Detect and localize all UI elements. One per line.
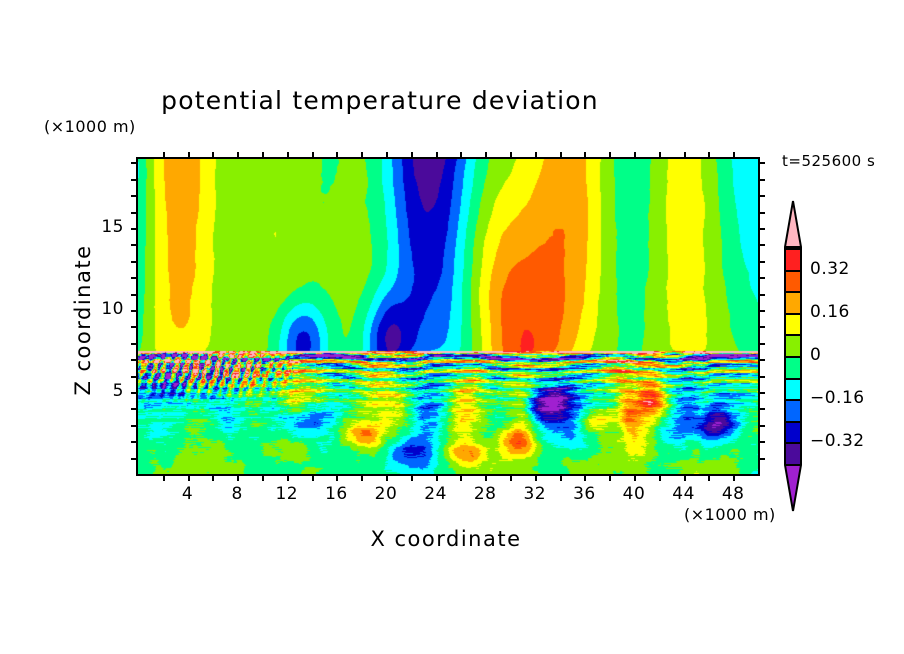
x-tick-label: 12 (267, 484, 307, 504)
y-tick (131, 376, 138, 378)
x-tick-label: 8 (217, 484, 257, 504)
x-tick-label: 32 (515, 484, 555, 504)
contour-field (138, 159, 758, 474)
x-tick (560, 474, 562, 481)
x-tick (212, 152, 214, 159)
x-tick-label: 4 (168, 484, 208, 504)
x-axis-title: X coordinate (136, 527, 756, 551)
y-tick (131, 343, 138, 345)
x-tick-label: 16 (316, 484, 356, 504)
y-tick (758, 408, 765, 410)
x-tick (684, 152, 686, 159)
y-tick (131, 326, 138, 328)
x-tick (287, 474, 289, 481)
y-tick (131, 228, 138, 230)
y-tick (758, 179, 765, 181)
x-units-label: (×1000 m) (684, 505, 776, 524)
x-tick (733, 152, 735, 159)
cap-triangle-down (784, 464, 802, 512)
x-tick-label: 20 (366, 484, 406, 504)
y-tick (131, 195, 138, 197)
x-tick (312, 474, 314, 481)
figure-root: potential temperature deviation (×1000 m… (0, 0, 904, 654)
y-tick (758, 359, 765, 361)
y-tick-label: 5 (84, 381, 124, 401)
x-tick (386, 474, 388, 481)
x-tick (535, 474, 537, 481)
y-tick (758, 212, 765, 214)
plot-area (136, 157, 760, 476)
x-tick (436, 152, 438, 159)
x-tick (460, 474, 462, 481)
x-tick (684, 474, 686, 481)
y-tick (758, 162, 765, 164)
y-tick (758, 343, 765, 345)
x-tick-label: 40 (614, 484, 654, 504)
colorbar-bands (784, 248, 802, 464)
y-tick-label: 15 (84, 217, 124, 237)
x-tick (609, 152, 611, 159)
x-tick (411, 474, 413, 481)
y-tick (758, 376, 765, 378)
y-tick (758, 195, 765, 197)
y-tick (131, 162, 138, 164)
x-tick-label: 36 (564, 484, 604, 504)
x-tick-label: 24 (416, 484, 456, 504)
colorbar-band (786, 423, 800, 445)
y-tick (758, 310, 765, 312)
x-tick-label: 28 (465, 484, 505, 504)
colorbar-band (786, 250, 800, 272)
y-tick (131, 277, 138, 279)
y-tick (758, 261, 765, 263)
x-tick (733, 474, 735, 481)
x-tick (312, 152, 314, 159)
colorbar-band (786, 315, 800, 337)
y-tick-label: 10 (84, 299, 124, 319)
x-tick (237, 152, 239, 159)
x-tick (336, 474, 338, 481)
x-tick (386, 152, 388, 159)
y-tick (131, 458, 138, 460)
x-tick (163, 474, 165, 481)
x-tick (287, 152, 289, 159)
y-tick (131, 244, 138, 246)
colorbar-tick-label: 0.32 (810, 259, 850, 279)
y-tick (758, 458, 765, 460)
x-tick (535, 152, 537, 159)
x-tick (584, 474, 586, 481)
page-title: potential temperature deviation (0, 86, 760, 115)
x-tick (708, 474, 710, 481)
y-tick (131, 179, 138, 181)
x-tick (634, 152, 636, 159)
x-tick (510, 474, 512, 481)
x-tick (212, 474, 214, 481)
colorbar-under-cap (784, 464, 802, 512)
x-tick (659, 152, 661, 159)
y-tick (131, 310, 138, 312)
time-annotation: t=525600 s (782, 152, 875, 170)
colorbar-over-cap (784, 200, 802, 248)
z-units-label: (×1000 m) (44, 117, 136, 136)
y-tick (131, 425, 138, 427)
x-tick (361, 152, 363, 159)
y-tick (758, 425, 765, 427)
y-tick (758, 277, 765, 279)
colorbar-band (786, 358, 800, 380)
colorbar-tick-label: −0.16 (810, 388, 865, 408)
colorbar-band (786, 444, 800, 466)
x-tick (336, 152, 338, 159)
x-tick (163, 152, 165, 159)
x-tick (659, 474, 661, 481)
x-tick (609, 474, 611, 481)
x-tick (460, 152, 462, 159)
y-tick (131, 392, 138, 394)
x-tick-label: 44 (664, 484, 704, 504)
x-tick-label: 48 (713, 484, 753, 504)
colorbar-tick-label: −0.32 (810, 431, 865, 451)
colorbar-band (786, 380, 800, 402)
x-tick (708, 152, 710, 159)
colorbar-band (786, 401, 800, 423)
colorbar-band (786, 272, 800, 294)
x-tick (485, 152, 487, 159)
x-tick (510, 152, 512, 159)
x-tick (188, 152, 190, 159)
x-tick (262, 474, 264, 481)
x-tick (584, 152, 586, 159)
x-tick (262, 152, 264, 159)
y-tick (758, 228, 765, 230)
y-tick (758, 441, 765, 443)
x-tick (485, 474, 487, 481)
y-tick (131, 212, 138, 214)
x-tick (188, 474, 190, 481)
y-tick (758, 326, 765, 328)
y-tick (131, 441, 138, 443)
y-tick (131, 408, 138, 410)
colorbar-tick-label: 0.16 (810, 302, 850, 322)
x-tick (634, 474, 636, 481)
x-tick (411, 152, 413, 159)
colorbar-tick-label: 0 (810, 345, 821, 365)
x-tick (560, 152, 562, 159)
y-tick (131, 359, 138, 361)
x-tick (361, 474, 363, 481)
y-tick (131, 261, 138, 263)
y-tick (758, 244, 765, 246)
x-tick (237, 474, 239, 481)
y-tick (131, 294, 138, 296)
colorbar-band (786, 336, 800, 358)
y-tick (758, 392, 765, 394)
y-tick (758, 294, 765, 296)
colorbar: 0.320.160−0.16−0.32 (780, 200, 806, 512)
colorbar-band (786, 293, 800, 315)
x-tick (436, 474, 438, 481)
cap-triangle-up (784, 200, 802, 248)
